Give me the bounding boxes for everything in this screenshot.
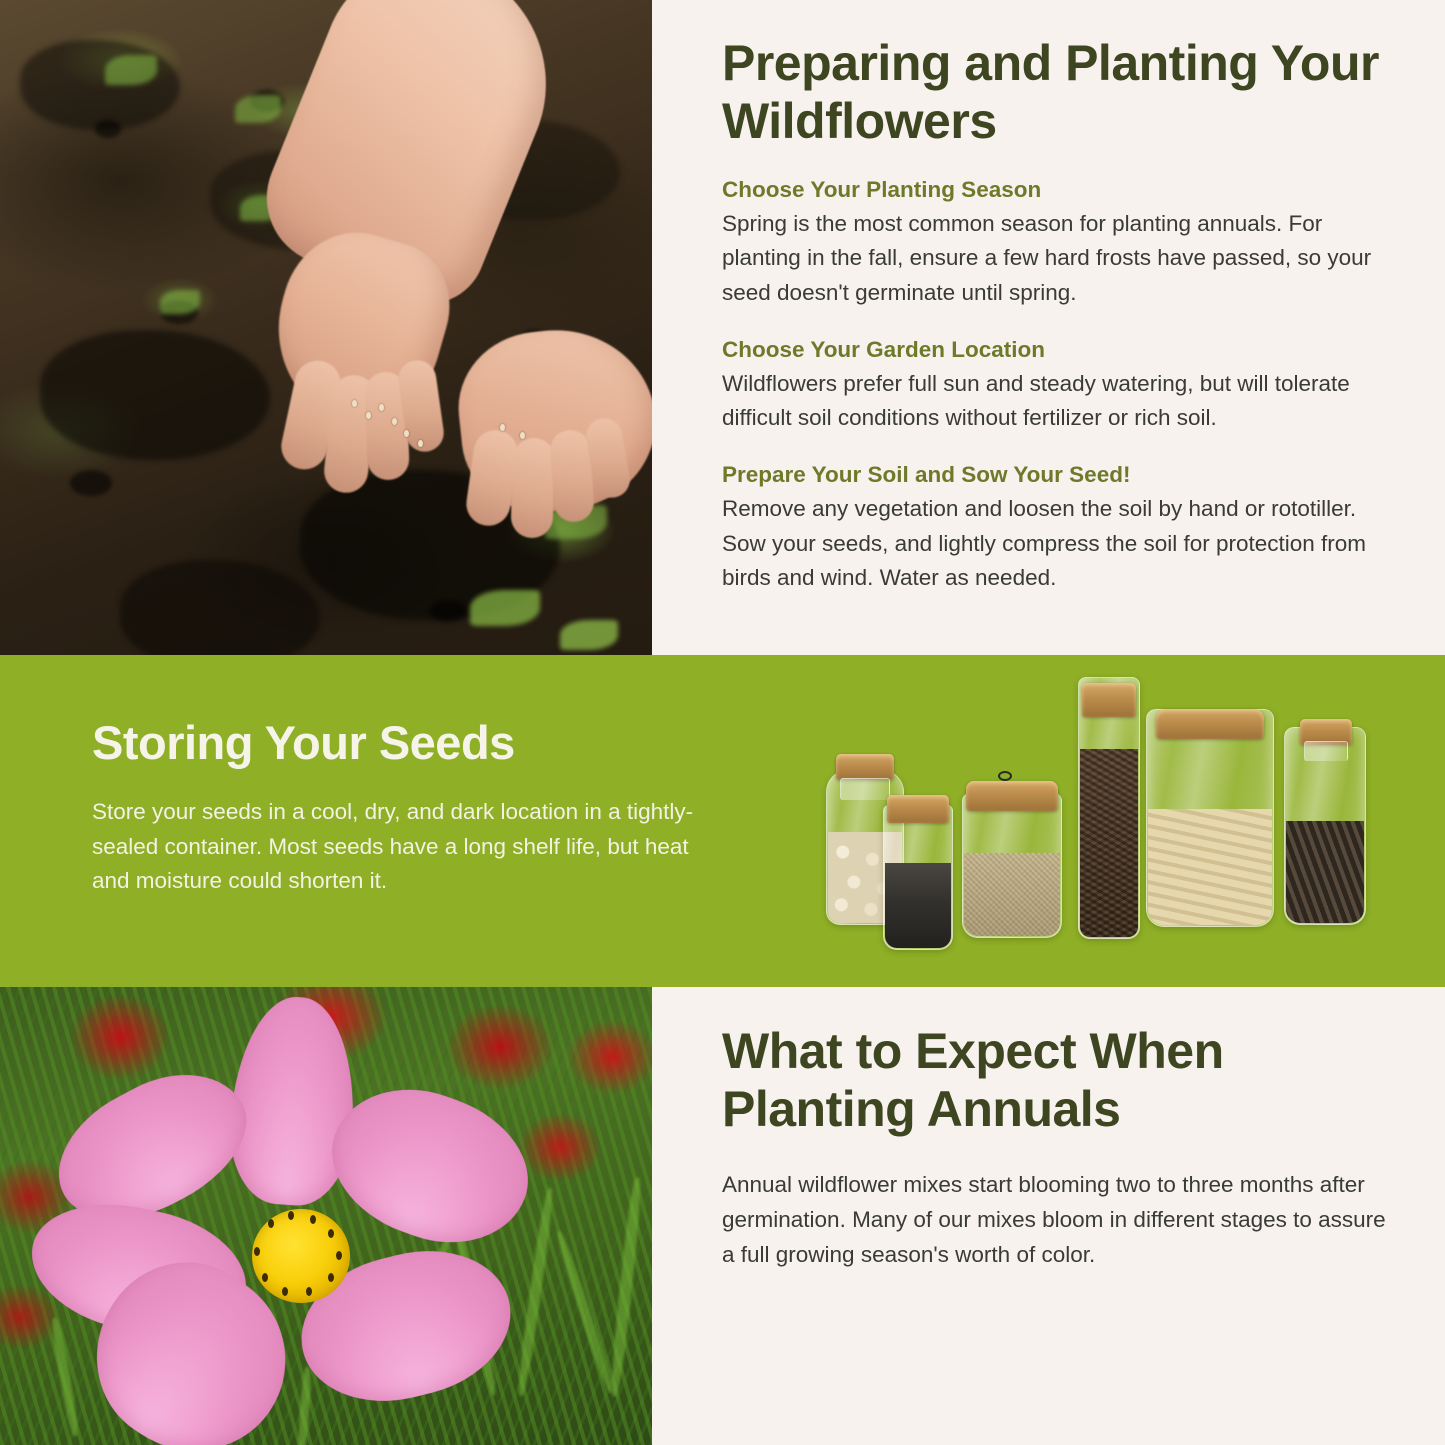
jar-tan-grain [962, 793, 1062, 938]
block-prepare-soil: Prepare Your Soil and Sow Your Seed! Rem… [722, 461, 1392, 595]
block-planting-season: Choose Your Planting Season Spring is th… [722, 176, 1392, 310]
block-heading-prepare-soil: Prepare Your Soil and Sow Your Seed! [722, 461, 1392, 489]
finger-6 [510, 437, 555, 538]
expect-text-column: What to Expect When Planting Annuals Ann… [722, 1022, 1392, 1273]
storing-text-column: Storing Your Seeds Store your seeds in a… [92, 717, 722, 899]
page-title: Preparing and Planting Your Wildflowers [722, 34, 1392, 150]
jar-lid-pull-ring [998, 771, 1012, 781]
cosmos-flower-photo [0, 987, 652, 1445]
expect-title: What to Expect When Planting Annuals [722, 1022, 1392, 1138]
wildflower-planting-infographic: Preparing and Planting Your Wildflowers … [0, 0, 1445, 1445]
planting-text-column: Preparing and Planting Your Wildflowers … [722, 34, 1392, 595]
jar-sunflower-seeds [1284, 727, 1366, 925]
section-preparing-and-planting: Preparing and Planting Your Wildflowers … [0, 0, 1445, 655]
jar-black-seeds [883, 805, 953, 950]
jar-tall-dark-seeds [1078, 677, 1140, 939]
storing-title: Storing Your Seeds [92, 717, 722, 769]
jar-pumpkin-seeds [1146, 709, 1274, 927]
block-heading-garden-location: Choose Your Garden Location [722, 336, 1392, 364]
block-garden-location: Choose Your Garden Location Wildflowers … [722, 336, 1392, 436]
expect-body: Annual wildflower mixes start blooming t… [722, 1168, 1392, 1273]
section-storing-your-seeds: Storing Your Seeds Store your seeds in a… [0, 655, 1445, 987]
section-what-to-expect: What to Expect When Planting Annuals Ann… [0, 987, 1445, 1445]
seed-jars-photo [820, 665, 1390, 965]
block-body-prepare-soil: Remove any vegetation and loosen the soi… [722, 492, 1392, 595]
block-heading-planting-season: Choose Your Planting Season [722, 176, 1392, 204]
block-body-planting-season: Spring is the most common season for pla… [722, 207, 1392, 310]
block-body-garden-location: Wildflowers prefer full sun and steady w… [722, 367, 1392, 435]
storing-body: Store your seeds in a cool, dry, and dar… [92, 795, 722, 900]
hand-sowing-seeds-photo [0, 0, 652, 655]
